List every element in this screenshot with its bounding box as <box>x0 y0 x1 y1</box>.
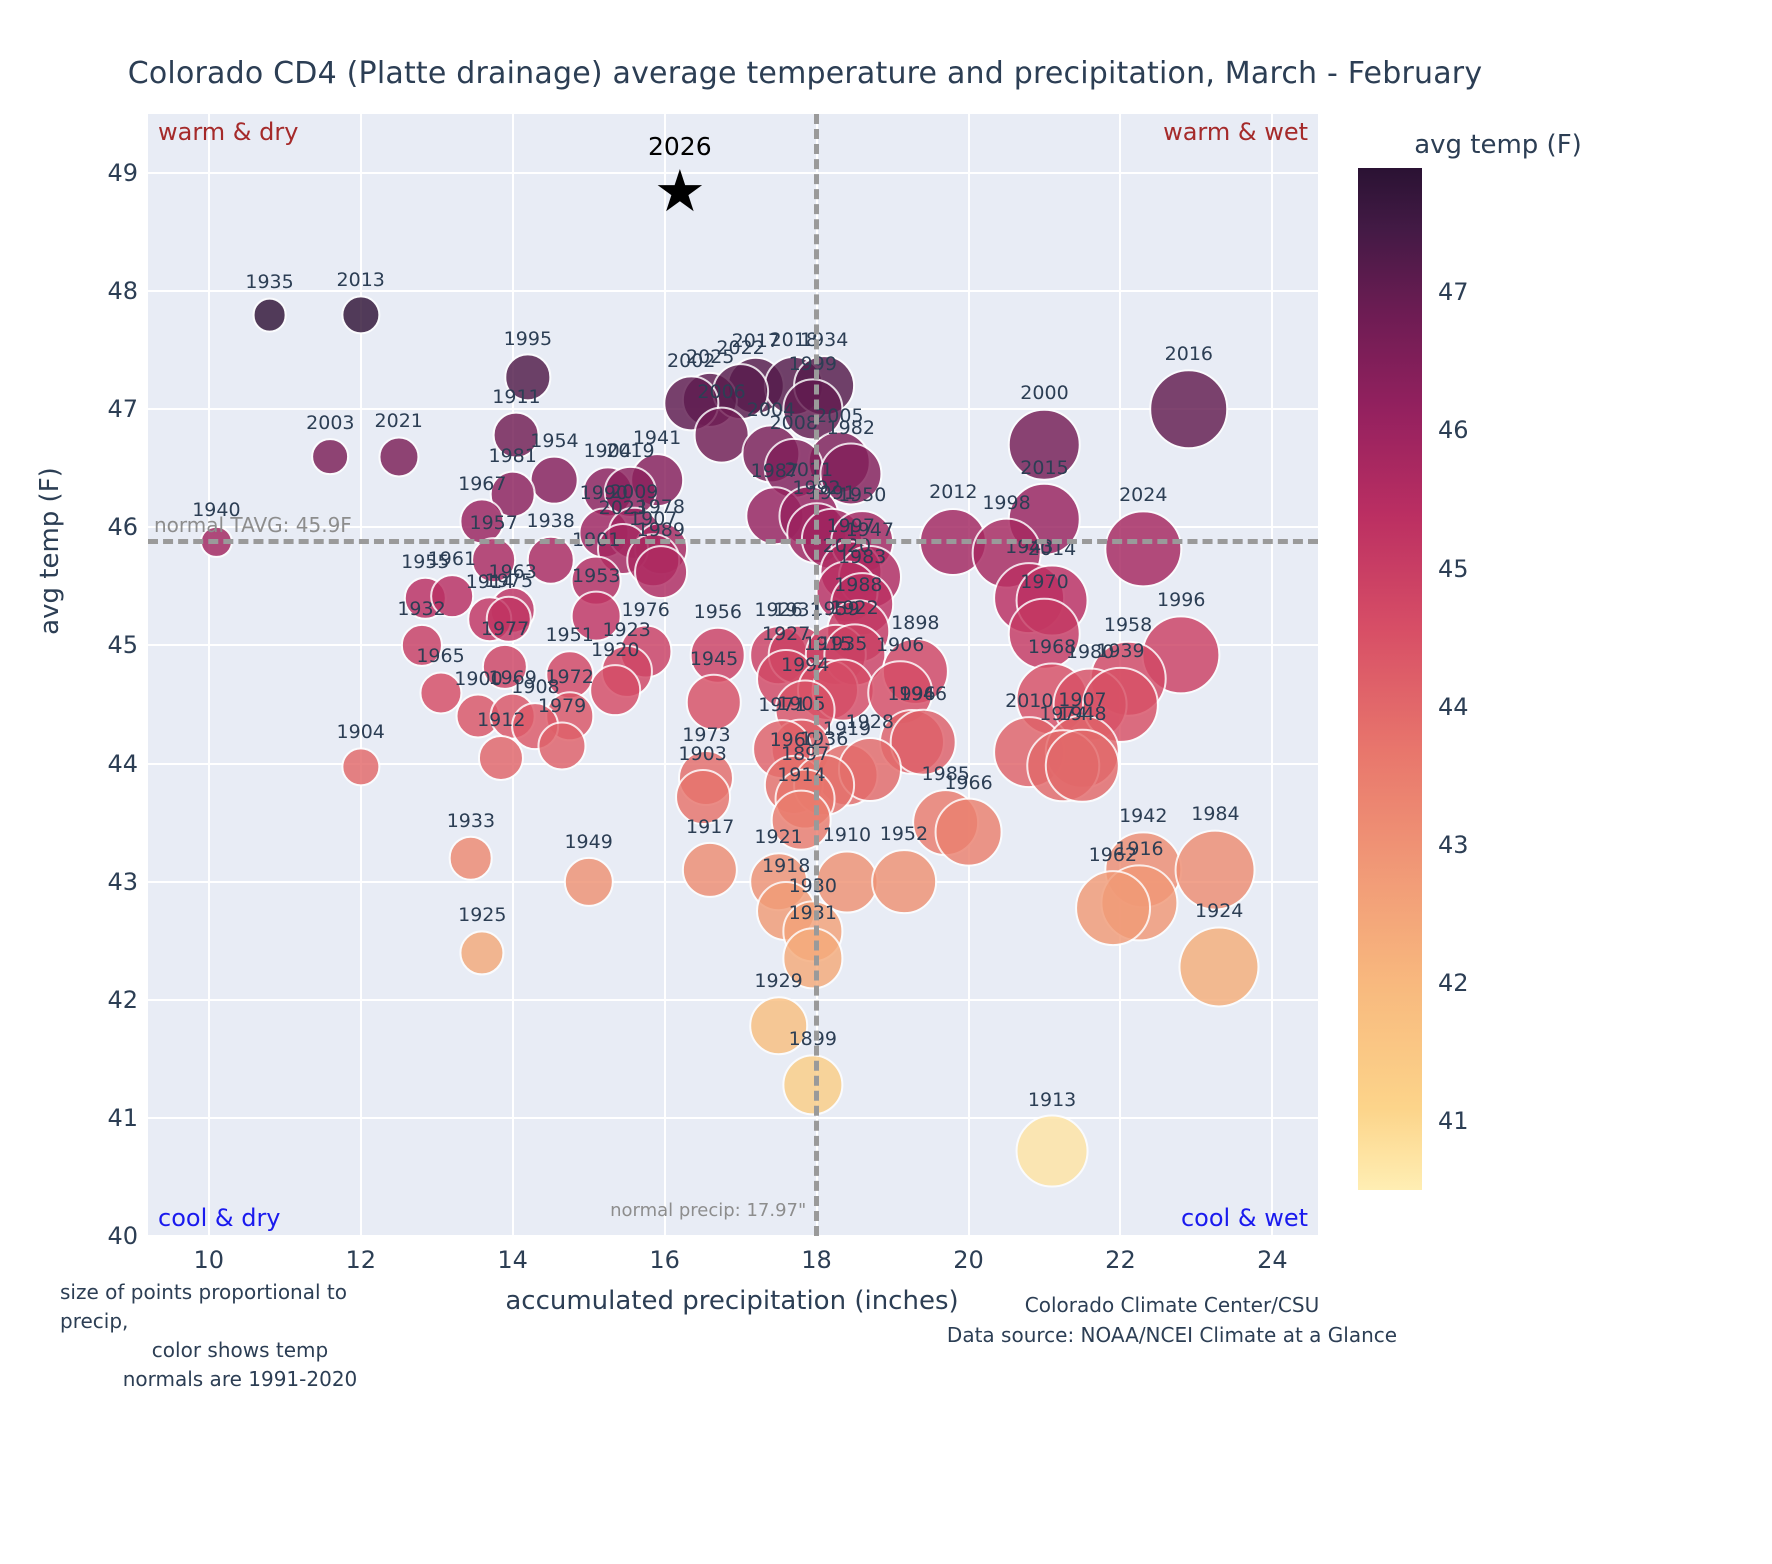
horizontal-gridline <box>148 1117 1318 1119</box>
colorbar-tick-label: 43 <box>1438 831 1469 859</box>
horizontal-gridline <box>148 290 1318 292</box>
vertical-gridline <box>208 114 210 1236</box>
data-point-label: 1989 <box>637 519 685 541</box>
data-point-label: 1899 <box>789 1028 837 1050</box>
colorbar-tick-label: 45 <box>1438 555 1469 583</box>
data-point-label: 1931 <box>789 902 837 924</box>
x-tick-label: 10 <box>193 1246 224 1274</box>
y-axis-label: avg temp (F) <box>35 311 65 791</box>
data-point <box>563 857 613 907</box>
data-point <box>252 297 287 332</box>
data-point-label: 1935 <box>819 633 867 655</box>
data-point <box>1105 510 1182 587</box>
data-point-label: 1996 <box>1157 589 1205 611</box>
x-tick-label: 22 <box>1105 1246 1136 1274</box>
y-tick-label: 42 <box>107 986 138 1014</box>
data-point <box>686 674 742 730</box>
data-point-label: 1922 <box>830 597 878 619</box>
data-point-label: 2012 <box>929 481 977 503</box>
x-tick-label: 18 <box>801 1246 832 1274</box>
data-point-label: 1965 <box>416 645 464 667</box>
data-point <box>634 545 688 599</box>
data-point-label: 1967 <box>458 473 506 495</box>
data-point-label: 1928 <box>846 711 894 733</box>
y-tick-label: 47 <box>107 395 138 423</box>
data-point-label: 1913 <box>1028 1089 1076 1111</box>
horizontal-gridline <box>148 999 1318 1001</box>
data-point-label: 2002 <box>667 350 715 372</box>
data-point-label: 1984 <box>1191 803 1239 825</box>
data-point-label: 2008 <box>770 412 818 434</box>
horizontal-gridline <box>148 1235 1318 1237</box>
data-point <box>341 747 380 786</box>
data-point-label: 2024 <box>1119 484 1167 506</box>
y-tick-label: 48 <box>107 277 138 305</box>
data-point-label: 1951 <box>545 624 593 646</box>
data-point-label: 2006 <box>697 381 745 403</box>
data-point-label: 1999 <box>789 353 837 375</box>
size-color-note: size of points proportional to precip, c… <box>60 1278 420 1394</box>
data-point <box>1175 829 1256 910</box>
note-line-1: size of points proportional to precip, <box>60 1278 420 1336</box>
data-point-label: 1934 <box>800 329 848 351</box>
colorbar-tick-label: 41 <box>1438 1107 1469 1135</box>
data-point-label: 1917 <box>686 816 734 838</box>
note-line-3: normals are 1991-2020 <box>60 1365 420 1394</box>
vertical-gridline <box>664 114 666 1236</box>
data-point-label: 1988 <box>834 574 882 596</box>
data-point-label: 1925 <box>458 904 506 926</box>
data-point <box>449 836 494 881</box>
data-point-label: 1966 <box>944 772 992 794</box>
y-tick-label: 45 <box>107 631 138 659</box>
quadrant-label-cool-dry: cool & dry <box>158 1204 281 1232</box>
normal-tavg-label: normal TAVG: 45.9F <box>154 513 352 537</box>
scatter-plot-area: 1935201319952017201819342025202220022016… <box>148 114 1318 1236</box>
data-point-label: 1930 <box>789 875 837 897</box>
data-point <box>871 849 937 915</box>
data-point-label: 1920 <box>591 639 639 661</box>
data-point-label: 1998 <box>982 492 1030 514</box>
normal-tavg-reference-line <box>148 539 1318 544</box>
colorbar-title: avg temp (F) <box>1414 130 1582 160</box>
x-tick-label: 20 <box>953 1246 984 1274</box>
data-point-label: 1995 <box>504 328 552 350</box>
data-point-label: 2015 <box>1020 457 1068 479</box>
colorbar-tick-label: 44 <box>1438 693 1469 721</box>
data-point-label: 1950 <box>838 484 886 506</box>
data-point-label: 1945 <box>690 648 738 670</box>
data-point-label: 1939 <box>1096 640 1144 662</box>
x-tick-label: 14 <box>497 1246 528 1274</box>
y-tick-label: 41 <box>107 1104 138 1132</box>
data-point <box>682 842 738 898</box>
data-point-label: 1921 <box>754 826 802 848</box>
data-point <box>311 438 349 476</box>
y-tick-label: 40 <box>107 1222 138 1250</box>
vertical-gridline <box>968 114 970 1236</box>
data-point-label: 2022 <box>716 337 764 359</box>
y-tick-label: 43 <box>107 868 138 896</box>
data-point <box>378 436 419 477</box>
data-point-label: 1898 <box>891 612 939 634</box>
y-tick-label: 49 <box>107 159 138 187</box>
data-point-label: 2016 <box>1165 343 1213 365</box>
data-point <box>589 665 641 717</box>
data-point <box>460 930 505 975</box>
data-point-label: 1954 <box>530 430 578 452</box>
y-tick-label: 44 <box>107 750 138 778</box>
quadrant-label-cool-wet: cool & wet <box>1181 1204 1308 1232</box>
data-point <box>1016 1115 1089 1188</box>
data-point-label: 2019 <box>606 440 654 462</box>
x-tick-label: 24 <box>1257 1246 1288 1274</box>
data-point-label: 1953 <box>572 565 620 587</box>
data-point-label: 2000 <box>1020 382 1068 404</box>
data-point-label: 1912 <box>477 709 525 731</box>
data-point-label: 1970 <box>1020 571 1068 593</box>
horizontal-gridline <box>148 172 1318 174</box>
data-point-label: 1956 <box>694 601 742 623</box>
data-point-label: 1903 <box>678 743 726 765</box>
page-title: Colorado CD4 (Platte drainage) average t… <box>0 56 1610 91</box>
quadrant-label-warm-dry: warm & dry <box>158 118 298 146</box>
data-point-label: 1932 <box>397 598 445 620</box>
credit-block: Colorado Climate Center/CSU Data source:… <box>932 1290 1412 1350</box>
data-point-label: 2003 <box>306 412 354 434</box>
y-tick-label: 46 <box>107 513 138 541</box>
data-point-label: 1975 <box>485 570 533 592</box>
data-point-label: 1962 <box>1089 844 1137 866</box>
horizontal-gridline <box>148 763 1318 765</box>
data-point-label: 1952 <box>880 823 928 845</box>
data-point <box>934 798 1003 867</box>
note-line-2: color shows temp <box>60 1336 420 1365</box>
star-marker-label: 2026 <box>648 132 712 161</box>
data-point-label: 1949 <box>564 831 612 853</box>
colorbar-tick-label: 42 <box>1438 969 1469 997</box>
data-point <box>538 721 587 770</box>
data-point <box>782 1054 843 1115</box>
credit-line-1: Colorado Climate Center/CSU <box>932 1290 1412 1320</box>
x-tick-label: 12 <box>345 1246 376 1274</box>
vertical-gridline <box>1271 114 1273 1236</box>
colorbar-tick-label: 46 <box>1438 416 1469 444</box>
data-point <box>1045 729 1119 803</box>
quadrant-label-warm-wet: warm & wet <box>1163 118 1308 146</box>
colorbar-tick-label: 47 <box>1438 278 1469 306</box>
data-point-label: 1976 <box>621 599 669 621</box>
data-point <box>341 295 380 334</box>
credit-line-2: Data source: NOAA/NCEI Climate at a Glan… <box>932 1320 1412 1350</box>
data-point-label: 1946 <box>899 683 947 705</box>
colorbar-gradient <box>1358 168 1422 1190</box>
data-point-label: 1981 <box>488 445 536 467</box>
data-point-label: 1961 <box>428 548 476 570</box>
data-point <box>1179 926 1260 1007</box>
data-point-label: 1994 <box>781 654 829 676</box>
x-tick-label: 16 <box>649 1246 680 1274</box>
normal-precip-label: normal precip: 17.97" <box>610 1200 814 1221</box>
data-point-label: 1948 <box>1058 703 1106 725</box>
data-point-label: 1983 <box>838 546 886 568</box>
data-point <box>1075 870 1151 946</box>
data-point-label: 1910 <box>823 824 871 846</box>
data-point-label: 1977 <box>481 618 529 640</box>
data-point-label: 1938 <box>526 510 574 532</box>
data-point-label: 1904 <box>337 721 385 743</box>
data-point-label: 1929 <box>754 970 802 992</box>
data-point-label: 1957 <box>469 512 517 534</box>
data-point-label: 1971 <box>758 694 806 716</box>
data-point <box>478 735 524 781</box>
normal-precip-reference-line <box>814 114 819 1236</box>
data-point-label: 1935 <box>245 271 293 293</box>
data-point-label: 1982 <box>827 417 875 439</box>
data-point-label: 1942 <box>1119 805 1167 827</box>
data-point-label: 2021 <box>375 410 423 432</box>
data-point-label: 1979 <box>538 695 586 717</box>
data-point-label: 1958 <box>1104 614 1152 636</box>
data-point-label: 2013 <box>337 269 385 291</box>
data-point-label: 1897 <box>781 743 829 765</box>
data-point-label: 1933 <box>447 810 495 832</box>
data-point <box>530 456 579 505</box>
data-point <box>1149 369 1229 449</box>
data-point-label: 1906 <box>876 634 924 656</box>
data-point-label: 1924 <box>1195 900 1243 922</box>
data-point-label: 1911 <box>492 386 540 408</box>
